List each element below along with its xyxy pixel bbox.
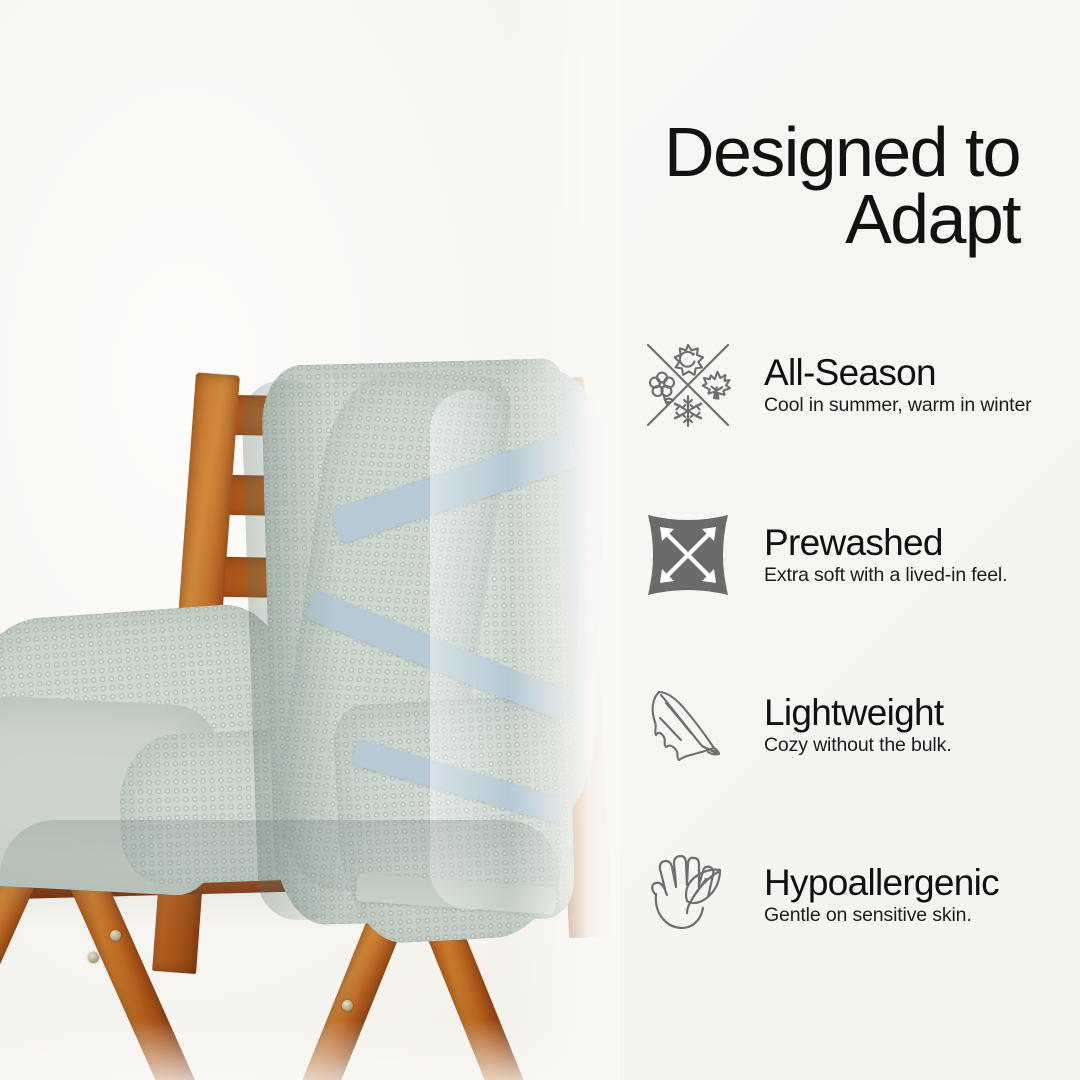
feature-subtitle: Cozy without the bulk. xyxy=(764,734,1080,757)
feature-title: Prewashed xyxy=(764,523,1080,562)
feature-text: Lightweight Cozy without the bulk. xyxy=(764,693,1080,758)
feather-icon xyxy=(632,669,744,781)
prewashed-shrink-icon xyxy=(632,499,744,611)
feature-title: Hypoallergenic xyxy=(764,863,1080,902)
feature-text: Prewashed Extra soft with a lived-in fee… xyxy=(764,523,1080,588)
feature-subtitle: Cool in summer, warm in winter xyxy=(764,394,1080,417)
infographic-canvas: Designed to Adapt xyxy=(0,0,1080,1080)
feature-item-hypoallergenic: Hypoallergenic Gentle on sensitive skin. xyxy=(632,810,1080,980)
four-seasons-icon xyxy=(632,329,744,441)
feature-title: Lightweight xyxy=(764,693,1080,732)
feature-list: All-Season Cool in summer, warm in winte… xyxy=(632,300,1080,980)
feature-subtitle: Extra soft with a lived-in feel. xyxy=(764,564,1080,587)
info-panel: Designed to Adapt xyxy=(600,0,1080,1080)
feature-subtitle: Gentle on sensitive skin. xyxy=(764,904,1080,927)
feature-text: Hypoallergenic Gentle on sensitive skin. xyxy=(764,863,1080,928)
feature-title: All-Season xyxy=(764,353,1080,392)
hand-leaf-icon xyxy=(632,839,744,951)
page-title: Designed to Adapt xyxy=(600,119,1020,253)
feature-item-prewashed: Prewashed Extra soft with a lived-in fee… xyxy=(632,470,1080,640)
photo-edge-fade-bottom xyxy=(0,1020,620,1080)
product-photo xyxy=(0,0,620,1080)
feature-item-all-season: All-Season Cool in summer, warm in winte… xyxy=(632,300,1080,470)
feature-text: All-Season Cool in summer, warm in winte… xyxy=(764,353,1080,418)
feature-item-lightweight: Lightweight Cozy without the bulk. xyxy=(632,640,1080,810)
